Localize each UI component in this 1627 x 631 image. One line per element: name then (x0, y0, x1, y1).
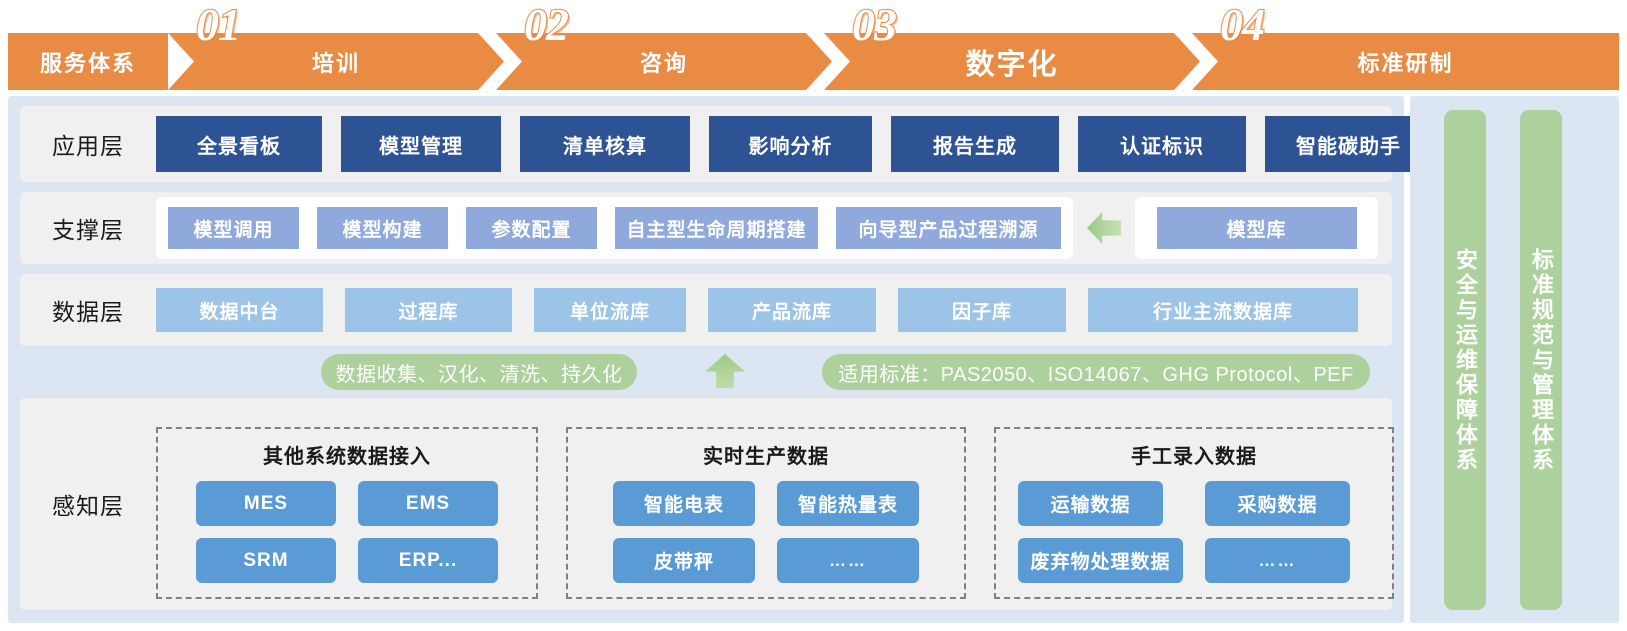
data-layer-items: 数据中台 过程库 单位流库 产品流库 因子库 行业主流数据库 (156, 288, 1392, 332)
sense-chip-feiqiwuchulishuju[interactable]: 废弃物处理数据 (1018, 538, 1183, 583)
banner-system-label: 服务体系 (8, 33, 168, 90)
sense-chip-more-realtime[interactable]: …… (777, 538, 919, 583)
app-chip-zhinengtanzhushou[interactable]: 智能碳助手 (1265, 116, 1432, 172)
sensing-group-other-systems-title: 其他系统数据接入 (263, 440, 431, 469)
application-layer-row: 应用层 全景看板 模型管理 清单核算 影响分析 报告生成 认证标识 智能碳助手 (20, 106, 1392, 182)
data-layer-row: 数据层 数据中台 过程库 单位流库 产品流库 因子库 行业主流数据库 (20, 274, 1392, 346)
data-chip-yinziku[interactable]: 因子库 (898, 288, 1066, 332)
support-layer-row: 支撑层 模型调用 模型构建 参数配置 自主型生命周期搭建 向导型产品过程溯源 模… (20, 192, 1392, 264)
app-chip-qingdanhesuan[interactable]: 清单核算 (520, 116, 690, 172)
app-chip-quanjingkanban[interactable]: 全景看板 (156, 116, 322, 172)
support-group-left: 模型调用 模型构建 参数配置 自主型生命周期搭建 向导型产品过程溯源 (156, 197, 1073, 259)
banner-step-3-number: 03 (852, 0, 896, 51)
support-layer-title: 支撑层 (20, 211, 156, 245)
sense-chip-srm[interactable]: SRM (196, 538, 336, 583)
banner-step-3-label: 数字化 (965, 41, 1058, 83)
sensing-group-other-systems-items: MES EMS SRM ERP... (196, 481, 498, 583)
data-chip-danweiliuku[interactable]: 单位流库 (534, 288, 686, 332)
sense-chip-pidaicheng[interactable]: 皮带秤 (613, 538, 755, 583)
architecture-diagram: 服务体系 培训 01 咨询 02 数字化 03 标准研制 04 应用层 全景看板… (0, 0, 1627, 631)
banner-step-2-label: 咨询 (640, 46, 688, 78)
banner-step-2-number: 02 (524, 0, 568, 51)
sensing-layer-row: 感知层 其他系统数据接入 MES EMS SRM ERP... 实时生产数据 智… (20, 398, 1392, 610)
process-banner: 服务体系 培训 01 咨询 02 数字化 03 标准研制 04 (0, 0, 1627, 95)
pipeline-left-pill: 数据收集、汉化、清洗、持久化 (321, 354, 637, 390)
support-chip-canshupeizhi[interactable]: 参数配置 (466, 207, 597, 249)
application-layer-items: 全景看板 模型管理 清单核算 影响分析 报告生成 认证标识 智能碳助手 (156, 116, 1432, 172)
banner-step-4-number: 04 (1220, 0, 1264, 51)
sense-chip-caigoushuju[interactable]: 采购数据 (1205, 481, 1350, 526)
support-chip-moxingku[interactable]: 模型库 (1157, 207, 1357, 249)
support-chip-zizhuxingshengmingzhouqi[interactable]: 自主型生命周期搭建 (615, 207, 818, 249)
data-chip-guochengku[interactable]: 过程库 (345, 288, 512, 332)
sense-chip-zhinengdianbiao[interactable]: 智能电表 (613, 481, 755, 526)
sensing-group-manual-entry-items: 运输数据 采购数据 废弃物处理数据 …… (1018, 481, 1370, 583)
support-chip-xiangdaoxingchanpin[interactable]: 向导型产品过程溯源 (836, 207, 1061, 249)
data-chip-hangyezhuliushujuku[interactable]: 行业主流数据库 (1088, 288, 1358, 332)
sense-chip-more-manual[interactable]: …… (1205, 538, 1350, 583)
sense-chip-mes[interactable]: MES (196, 481, 336, 526)
sensing-group-manual-entry-title: 手工录入数据 (1131, 440, 1257, 469)
sensing-layer-title: 感知层 (20, 487, 156, 521)
support-chip-moxingdiaoyong[interactable]: 模型调用 (168, 207, 299, 249)
app-chip-renzhengbiaoshi[interactable]: 认证标识 (1078, 116, 1246, 172)
application-layer-title: 应用层 (20, 127, 156, 161)
banner-step-1-label: 培训 (312, 46, 360, 78)
pipeline-right-pill: 适用标准：PAS2050、ISO14067、GHG Protocol、PEF (822, 354, 1370, 390)
support-chip-moxinggoujian[interactable]: 模型构建 (317, 207, 448, 249)
sense-chip-erp[interactable]: ERP... (358, 538, 498, 583)
banner-step-4-label: 标准研制 (1357, 46, 1453, 78)
sensing-group-realtime-production-items: 智能电表 智能热量表 皮带秤 …… (613, 481, 919, 583)
sense-chip-zhinengreliangbiao[interactable]: 智能热量表 (777, 481, 919, 526)
vbar-standards-management: 标准规范与管理体系 (1520, 110, 1562, 610)
main-panel: 应用层 全景看板 模型管理 清单核算 影响分析 报告生成 认证标识 智能碳助手 … (8, 96, 1404, 623)
sensing-group-realtime-production: 实时生产数据 智能电表 智能热量表 皮带秤 …… (566, 427, 966, 599)
vbar-security-ops: 安全与运维保障体系 (1444, 110, 1486, 610)
data-chip-shujuzhongtai[interactable]: 数据中台 (156, 288, 323, 332)
side-panel: 安全与运维保障体系 标准规范与管理体系 (1410, 96, 1619, 623)
app-chip-baogaoshengcheng[interactable]: 报告生成 (891, 116, 1059, 172)
sensing-layer-groups: 其他系统数据接入 MES EMS SRM ERP... 实时生产数据 智能电表 … (156, 409, 1394, 599)
support-group-right: 模型库 (1135, 197, 1378, 259)
data-layer-title: 数据层 (20, 293, 156, 327)
data-chip-chanpinliuku[interactable]: 产品流库 (708, 288, 876, 332)
arrow-up-icon (705, 354, 745, 388)
arrow-left-icon (1087, 212, 1121, 244)
app-chip-moxingguanli[interactable]: 模型管理 (341, 116, 501, 172)
sense-chip-yunshushuju[interactable]: 运输数据 (1018, 481, 1163, 526)
banner-step-1-number: 01 (196, 0, 240, 51)
sensing-group-manual-entry: 手工录入数据 运输数据 采购数据 废弃物处理数据 …… (994, 427, 1394, 599)
sensing-group-realtime-production-title: 实时生产数据 (703, 440, 829, 469)
banner-system-label-text: 服务体系 (40, 46, 136, 78)
app-chip-yingxiangfenxi[interactable]: 影响分析 (709, 116, 872, 172)
sense-chip-ems[interactable]: EMS (358, 481, 498, 526)
support-layer-items: 模型调用 模型构建 参数配置 自主型生命周期搭建 向导型产品过程溯源 模型库 (156, 197, 1392, 259)
sensing-group-other-systems: 其他系统数据接入 MES EMS SRM ERP... (156, 427, 538, 599)
